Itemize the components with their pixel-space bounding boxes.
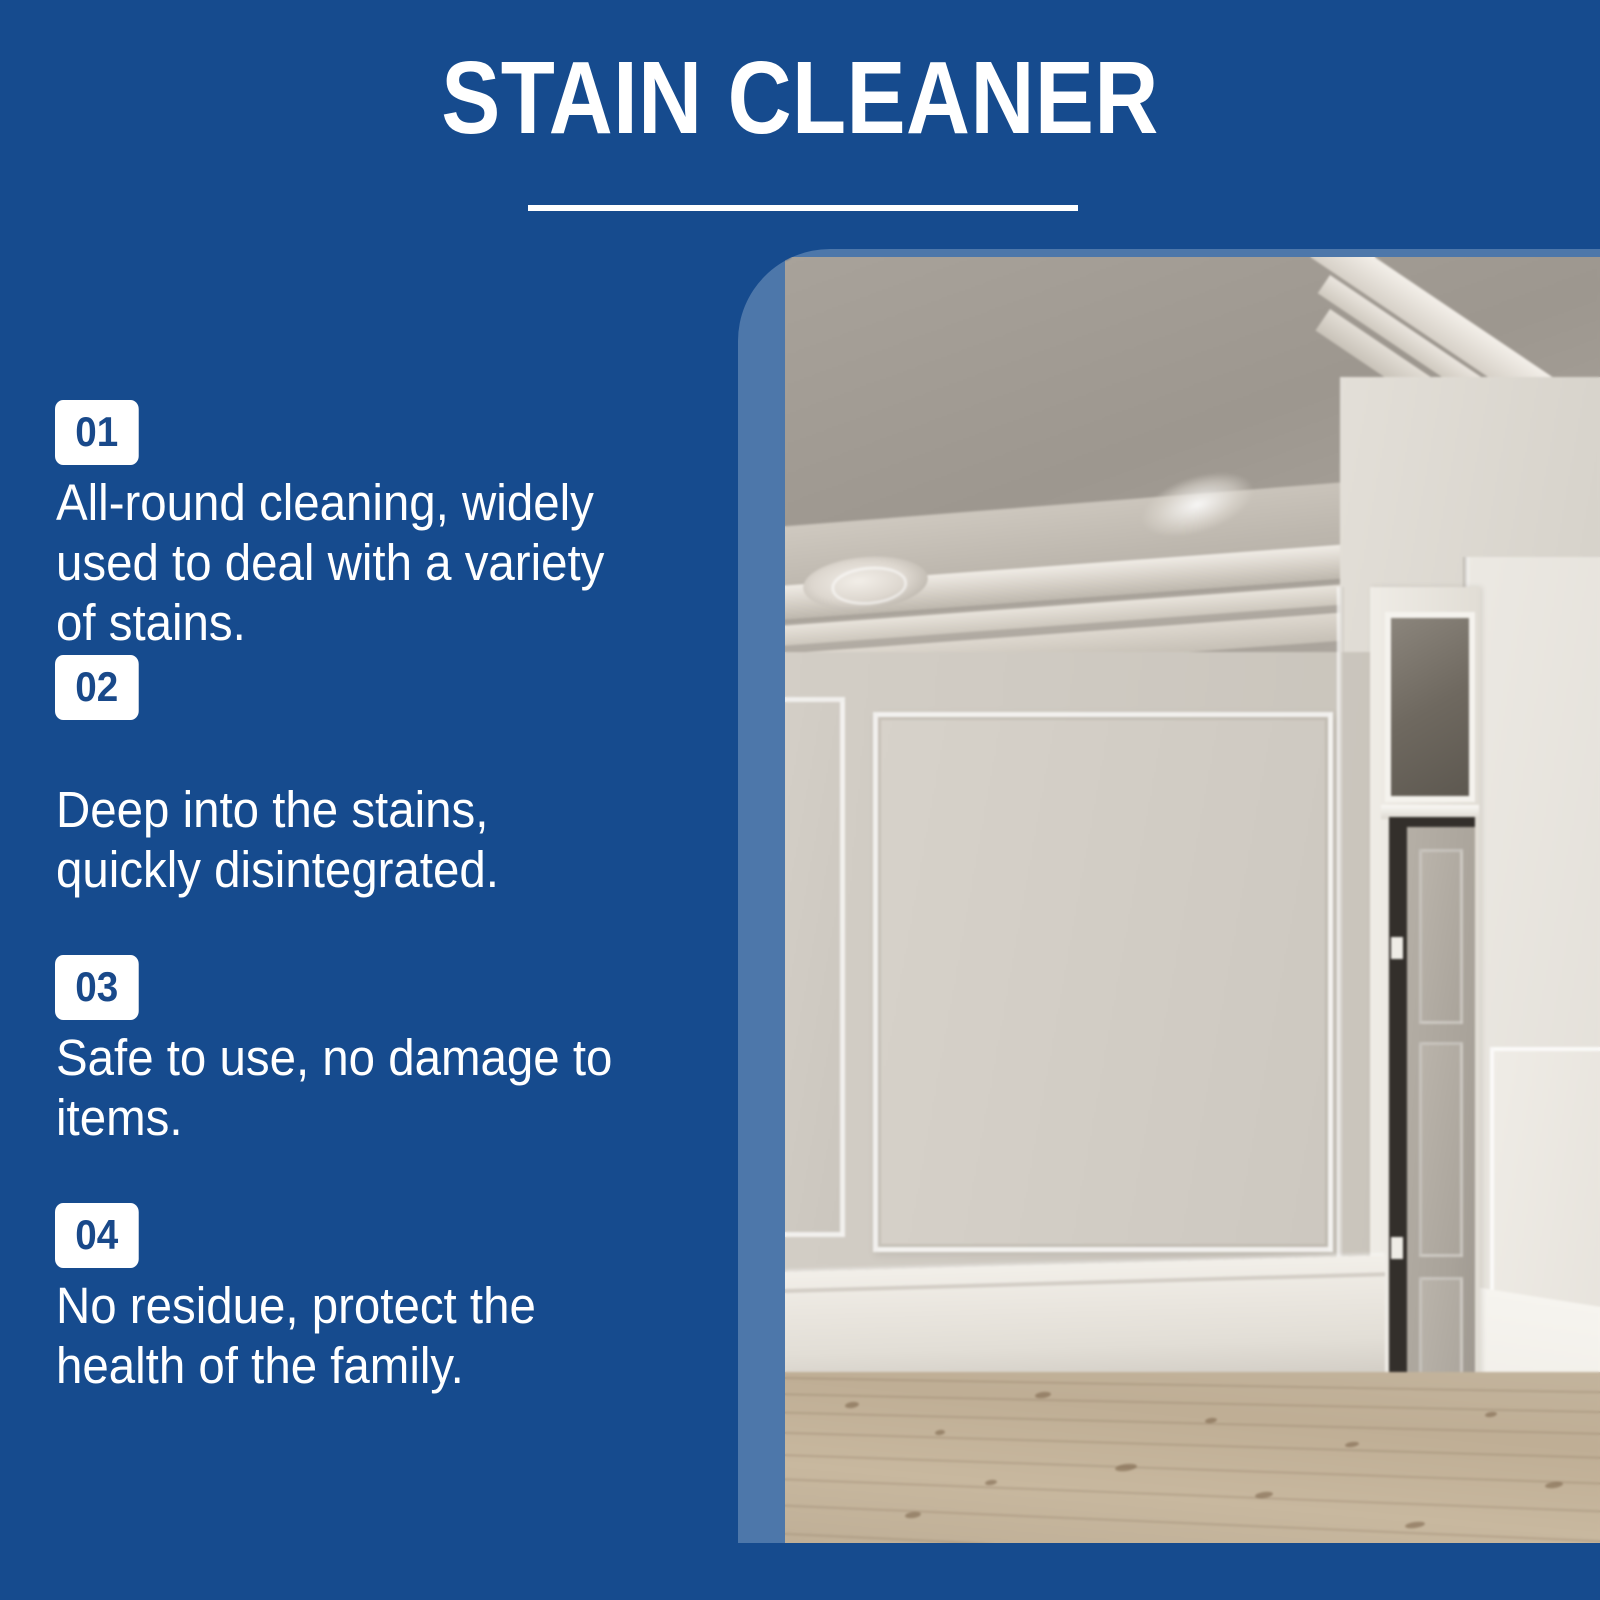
feature-list: 01 All-round cleaning, widely used to de… bbox=[0, 400, 720, 1396]
feature-number-badge-04: 04 bbox=[55, 1203, 138, 1268]
wooden-floor bbox=[785, 1372, 1600, 1543]
image-panel bbox=[738, 249, 1600, 1543]
feature-item-04: 04 No residue, protect the health of the… bbox=[0, 1203, 720, 1396]
feature-number-badge-02: 02 bbox=[55, 655, 138, 720]
floor-wood-knot bbox=[1035, 1391, 1052, 1399]
wall-panel-molding-main bbox=[873, 712, 1333, 1252]
feature-item-02: 02 Deep into the stains, quickly disinte… bbox=[0, 655, 720, 900]
floor-plank-line bbox=[785, 1376, 1600, 1395]
floor-wood-knot bbox=[905, 1511, 922, 1519]
transom-window-frame bbox=[1385, 612, 1475, 802]
door-panel-2 bbox=[1419, 1042, 1463, 1257]
feature-text-02: Deep into the stains, quickly disintegra… bbox=[56, 780, 642, 900]
title-block: STAIN CLEANER bbox=[0, 0, 1600, 152]
feature-text-03: Safe to use, no damage to items. bbox=[56, 1028, 642, 1148]
door-panel-1 bbox=[1419, 849, 1463, 1024]
room-photo bbox=[785, 257, 1600, 1543]
floor-wood-knot bbox=[1485, 1411, 1498, 1418]
door-hinge-top bbox=[1391, 937, 1403, 959]
feature-number-badge-01: 01 bbox=[55, 400, 138, 465]
feature-text-04: No residue, protect the health of the fa… bbox=[56, 1276, 642, 1396]
floor-wood-knot bbox=[1405, 1521, 1426, 1530]
floor-wood-knot bbox=[845, 1401, 860, 1409]
floor-plank-line bbox=[785, 1502, 1600, 1543]
floor-wood-knot bbox=[985, 1479, 998, 1486]
transom-window-glass bbox=[1391, 618, 1469, 796]
feature-text-01: All-round cleaning, widely used to deal … bbox=[56, 473, 642, 653]
door-hinge-middle bbox=[1391, 1237, 1403, 1259]
floor-wood-knot bbox=[935, 1429, 946, 1435]
floor-wood-knot bbox=[1345, 1441, 1360, 1448]
floor-plank-line bbox=[785, 1410, 1600, 1438]
feature-item-01: 01 All-round cleaning, widely used to de… bbox=[0, 400, 720, 653]
feature-number-badge-03: 03 bbox=[55, 955, 138, 1020]
feature-item-03: 03 Safe to use, no damage to items. bbox=[0, 955, 720, 1148]
page-title: STAIN CLEANER bbox=[112, 44, 1488, 152]
floor-plank-line bbox=[785, 1392, 1600, 1416]
floor-wood-knot bbox=[1115, 1463, 1138, 1473]
wall-panel-molding-left bbox=[785, 697, 845, 1237]
room-scene bbox=[785, 257, 1600, 1543]
title-underline-divider bbox=[528, 205, 1078, 211]
